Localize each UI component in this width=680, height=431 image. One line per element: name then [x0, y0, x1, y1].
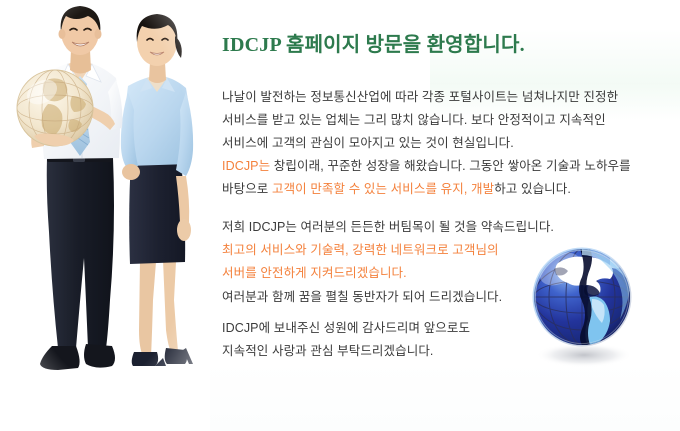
globe-shadow	[536, 343, 632, 367]
paragraph-line: 여러분과 함께 꿈을 펼칠 동반자가 되어 드리겠습니다.	[222, 290, 502, 304]
promise-highlight-line: 최고의 서비스와 기술력, 강력한 네트워크로 고객님의	[222, 243, 499, 257]
paragraph-line: 서비스를 받고 있는 업체는 그리 많치 않습니다. 보다 안정적이고 지속적인	[222, 113, 606, 127]
paragraph-line: 창립이래, 꾸준한 성장을 해왔습니다. 그동안 쌓아온 기술과 노하우를	[270, 159, 631, 173]
paragraph-line: 저희 IDCJP는 여러분의 든든한 버팀목이 될 것을 약속드립니다.	[222, 220, 554, 234]
blue-world-globe	[524, 243, 644, 375]
promise-highlight-line: 서버를 안전하게 지켜드리겠습니다.	[222, 266, 407, 280]
paragraph-line: 지속적인 사랑과 관심 부탁드리겠습니다.	[222, 344, 434, 358]
intro-paragraph: 나날이 발전하는 정보통신산업에 따라 각종 포털사이트는 넘쳐나지만 진정한 …	[222, 86, 680, 155]
paragraph-line: 바탕으로	[222, 182, 272, 196]
business-people-photo	[0, 0, 210, 431]
growth-paragraph: IDCJP는 창립이래, 꾸준한 성장을 해왔습니다. 그동안 쌓아온 기술과 …	[222, 155, 680, 201]
paragraph-line: 서비스에 고객의 관심이 모아지고 있는 것이 현실입니다.	[222, 136, 514, 150]
paragraph-line: 나날이 발전하는 정보통신산업에 따라 각종 포털사이트는 넘쳐나지만 진정한	[222, 90, 618, 104]
brand-name-highlight: IDCJP는	[222, 159, 270, 173]
paragraph-line: IDCJP에 보내주신 성원에 감사드리며 앞으로도	[222, 321, 470, 335]
paragraph-line: 하고 있습니다.	[494, 182, 571, 196]
service-highlight: 고객이 만족할 수 있는 서비스를 유지, 개발	[272, 182, 494, 196]
page-title: IDCJP 홈페이지 방문을 환영합니다.	[222, 28, 525, 57]
welcome-page: IDCJP 홈페이지 방문을 환영합니다. 나날이 발전하는 정보통신산업에 따…	[0, 0, 680, 431]
